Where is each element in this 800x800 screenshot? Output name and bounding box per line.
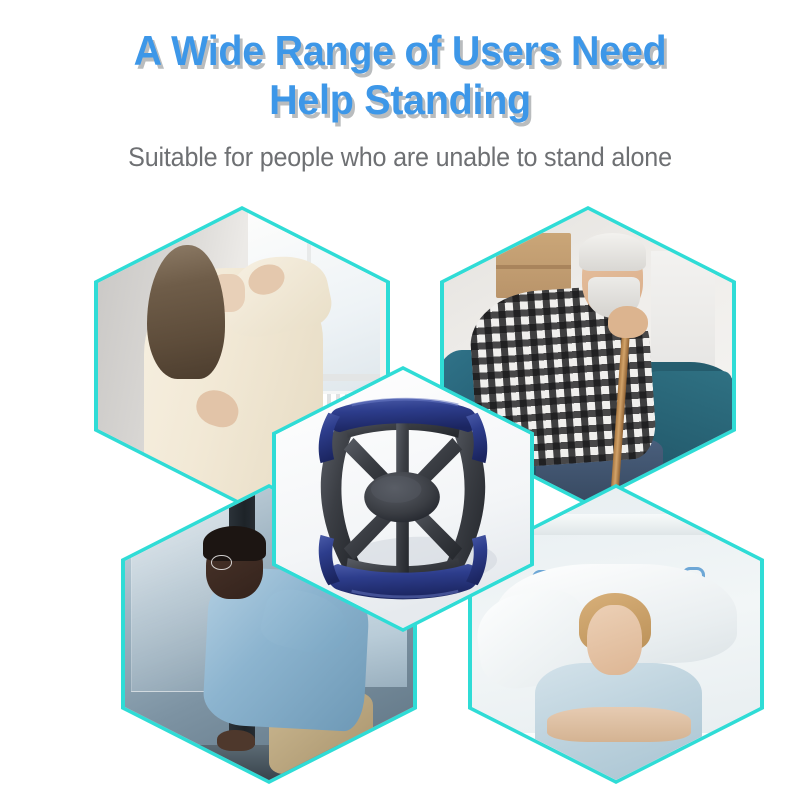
infographic-canvas: A Wide Range of Users Need Help Standing…	[0, 0, 800, 800]
eyeglasses-icon	[211, 555, 231, 570]
shelf-edge	[496, 265, 571, 269]
patient-head	[587, 605, 642, 675]
man-hair	[203, 526, 266, 561]
page-subtitle: Suitable for people who are unable to st…	[28, 140, 772, 174]
man-white-hair	[579, 233, 645, 271]
patient-hands	[547, 707, 691, 742]
man-hand-on-desk	[217, 730, 254, 750]
woman-hair	[147, 245, 225, 379]
page-title: A Wide Range of Users Need Help Standing	[24, 26, 776, 124]
man-hand-on-cane	[608, 306, 648, 338]
